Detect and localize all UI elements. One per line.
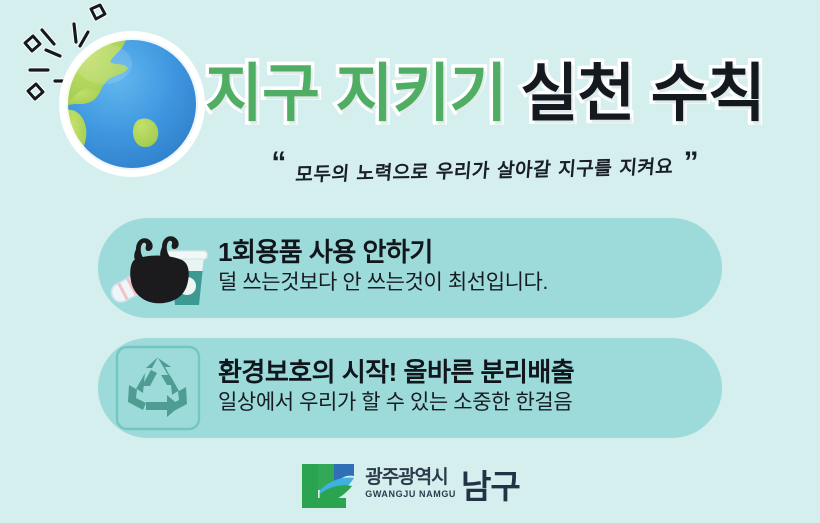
earth-globe-icon	[52, 24, 212, 184]
poster-title: 지구 지키기 실천 수칙	[205, 44, 765, 144]
close-quote-icon: ”	[684, 148, 699, 178]
tip-card-title: 환경보호의 시작! 올바른 분리배출	[218, 358, 574, 388]
recycle-symbol-icon	[98, 338, 218, 438]
footer-district-name: 남구	[461, 471, 520, 502]
title-segment-green: 지구 지키기	[205, 63, 506, 126]
title-segment-dark: 실천 수칙	[520, 63, 764, 126]
poster-root: 지구 지키기 실천 수칙 “ 모두의 노력으로 우리가 살아갈 지구를 지켜요 …	[0, 0, 820, 523]
footer-city-name-kr: 광주광역시	[365, 468, 447, 487]
tip-card-text: 1회용품 사용 안하기 덜 쓰는것보다 안 쓰는것이 최선입니다.	[218, 238, 548, 297]
open-quote-icon: “	[271, 148, 286, 178]
tip-card-recycling: 환경보호의 시작! 올바른 분리배출 일상에서 우리가 할 수 있는 소중한 한…	[98, 338, 722, 438]
plastic-bag-cup-bottle-icon	[98, 218, 218, 318]
subtitle-text: 모두의 노력으로 우리가 살아갈 지구를 지켜요	[295, 152, 675, 187]
poster-subtitle: “ 모두의 노력으로 우리가 살아갈 지구를 지켜요 ”	[250, 146, 720, 192]
footer-city-name-en: GWANGJU NAMGU	[365, 490, 456, 499]
tip-card-text: 환경보호의 시작! 올바른 분리배출 일상에서 우리가 할 수 있는 소중한 한…	[218, 358, 574, 417]
footer-logo: 광주광역시 GWANGJU NAMGU 남구	[0, 452, 820, 518]
tip-card-subtitle: 덜 쓰는것보다 안 쓰는것이 최선입니다.	[218, 270, 548, 295]
gwangju-namgu-emblem-icon	[300, 460, 356, 510]
footer-logo-text: 광주광역시 GWANGJU NAMGU 남구	[365, 468, 520, 503]
tip-card-subtitle: 일상에서 우리가 할 수 있는 소중한 한걸음	[218, 390, 574, 415]
tip-card-title: 1회용품 사용 안하기	[218, 238, 548, 268]
poster-header: 지구 지키기 실천 수칙 “ 모두의 노력으로 우리가 살아갈 지구를 지켜요 …	[0, 0, 820, 200]
tip-card-disposables: 1회용품 사용 안하기 덜 쓰는것보다 안 쓰는것이 최선입니다.	[98, 218, 722, 318]
